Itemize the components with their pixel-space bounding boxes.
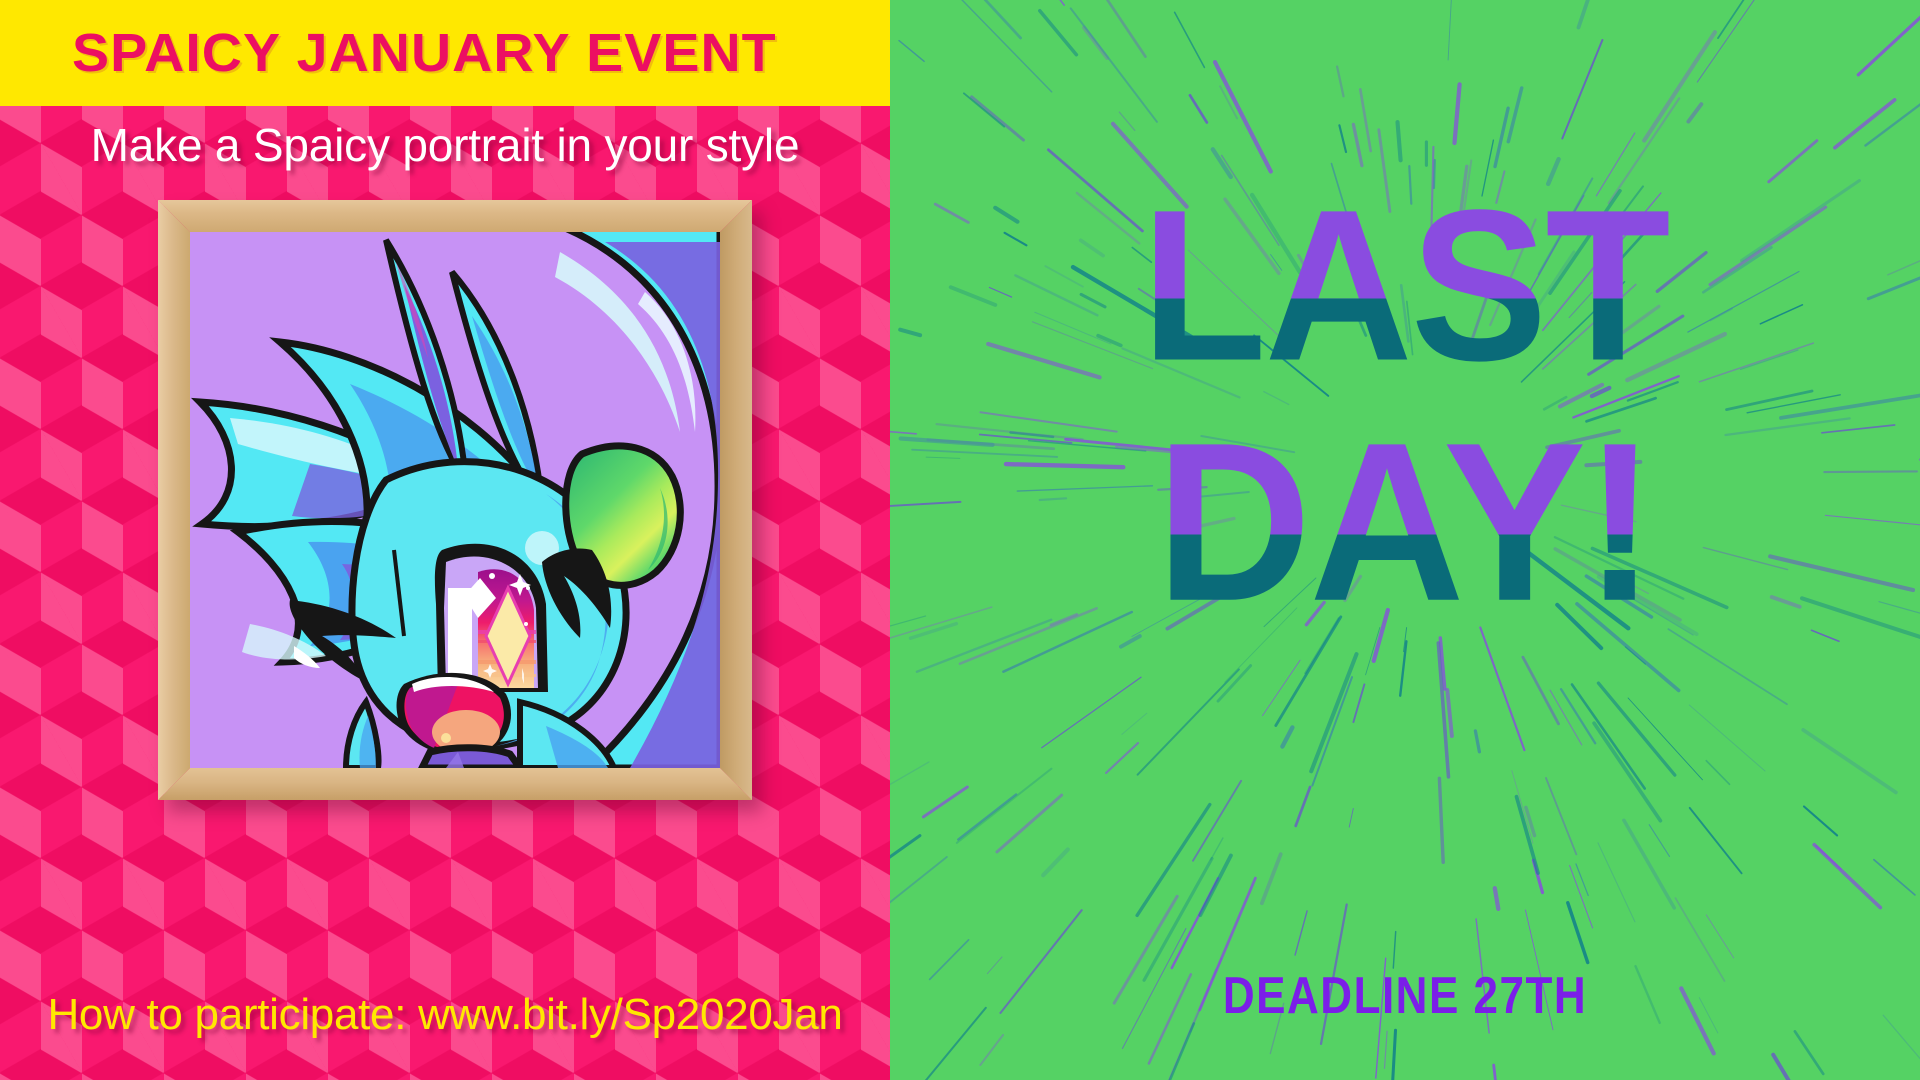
event-subtitle: Make a Spaicy portrait in your style bbox=[0, 118, 890, 172]
frame-left-rail bbox=[158, 200, 190, 800]
poster-root: SPAICY JANUARY EVENT Make a Spaicy portr… bbox=[0, 0, 1920, 1080]
radiating-lines-texture bbox=[890, 0, 1920, 1080]
yellow-header-band: SPAICY JANUARY EVENT bbox=[0, 0, 890, 106]
character-neck bbox=[422, 748, 520, 768]
event-title: SPAICY JANUARY EVENT bbox=[72, 22, 777, 84]
frame-top-rail bbox=[158, 200, 752, 232]
participate-url[interactable]: How to participate: www.bit.ly/Sp2020Jan bbox=[0, 990, 890, 1040]
frame-right-rail bbox=[720, 200, 752, 800]
frame-bottom-rail bbox=[158, 768, 752, 800]
spaicy-character-illustration bbox=[190, 232, 720, 768]
right-green-panel: LAST DAY! DEADLINE 27TH bbox=[890, 0, 1920, 1080]
deadline-text: DEADLINE 27TH bbox=[890, 967, 1920, 1026]
left-pink-panel: SPAICY JANUARY EVENT Make a Spaicy portr… bbox=[0, 0, 890, 1080]
picture-frame bbox=[158, 200, 752, 800]
artwork-canvas bbox=[190, 232, 720, 768]
